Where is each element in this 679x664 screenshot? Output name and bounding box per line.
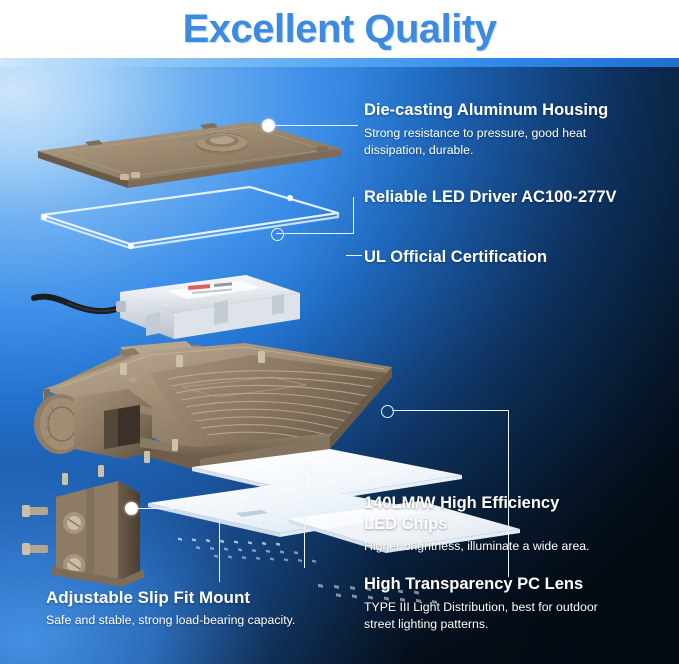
callout-line-chips-v	[304, 475, 305, 568]
callout-line-driver-h	[276, 233, 354, 234]
page-title: Excellent Quality	[183, 9, 497, 49]
callout-heading: Adjustable Slip Fit Mount	[46, 587, 356, 608]
callout-led-chips: 140LM/W High Efficiency LED Chips Higher…	[364, 493, 664, 556]
callout-line-ul	[346, 255, 362, 256]
callout-pc-lens: High Transparency PC Lens TYPE III Light…	[364, 574, 664, 634]
callout-subtext: Safe and stable, strong load-bearing cap…	[46, 612, 331, 629]
header-banner: Excellent Quality	[0, 0, 679, 58]
header-gradient-divider	[0, 58, 679, 67]
led-driver-part	[34, 275, 300, 339]
callout-line-mount-h	[137, 508, 220, 509]
callout-dot-lens	[381, 405, 394, 418]
gasket-outline-part	[42, 187, 338, 248]
callout-heading: High Transparency PC Lens	[364, 574, 664, 595]
callout-line-driver-v2	[353, 197, 354, 233]
callout-heading: 140LM/W High Efficiency LED Chips	[364, 493, 594, 534]
top-cover-part	[36, 122, 344, 195]
gasket-node	[41, 214, 47, 220]
exploded-view-stage: Die-casting Aluminum Housing Strong resi…	[0, 67, 679, 664]
callout-slip-fit-mount: Adjustable Slip Fit Mount Safe and stabl…	[46, 587, 356, 630]
callout-subtext: Higher brightness, illuminate a wide are…	[364, 538, 634, 555]
callout-line-housing	[274, 125, 358, 126]
callout-line-mount-v	[219, 508, 220, 582]
callout-heading: UL Official Certification	[364, 247, 669, 268]
callout-heading: Die-casting Aluminum Housing	[364, 100, 669, 121]
callout-die-casting-aluminum-housing: Die-casting Aluminum Housing Strong resi…	[364, 100, 669, 160]
callout-dot-chips	[299, 465, 312, 478]
callout-subtext: Strong resistance to pressure, good heat…	[364, 125, 614, 160]
callout-heading: Reliable LED Driver AC100-277V	[364, 187, 669, 208]
callout-subtext: TYPE III Light Distribution, best for ou…	[364, 599, 619, 634]
callout-dot-driver	[271, 228, 284, 241]
callout-line-lens-h	[392, 410, 509, 411]
callout-reliable-led-driver: Reliable LED Driver AC100-277V	[364, 187, 669, 208]
callout-ul-official-certification: UL Official Certification	[364, 247, 669, 268]
product-infographic: Excellent Quality	[0, 0, 679, 664]
